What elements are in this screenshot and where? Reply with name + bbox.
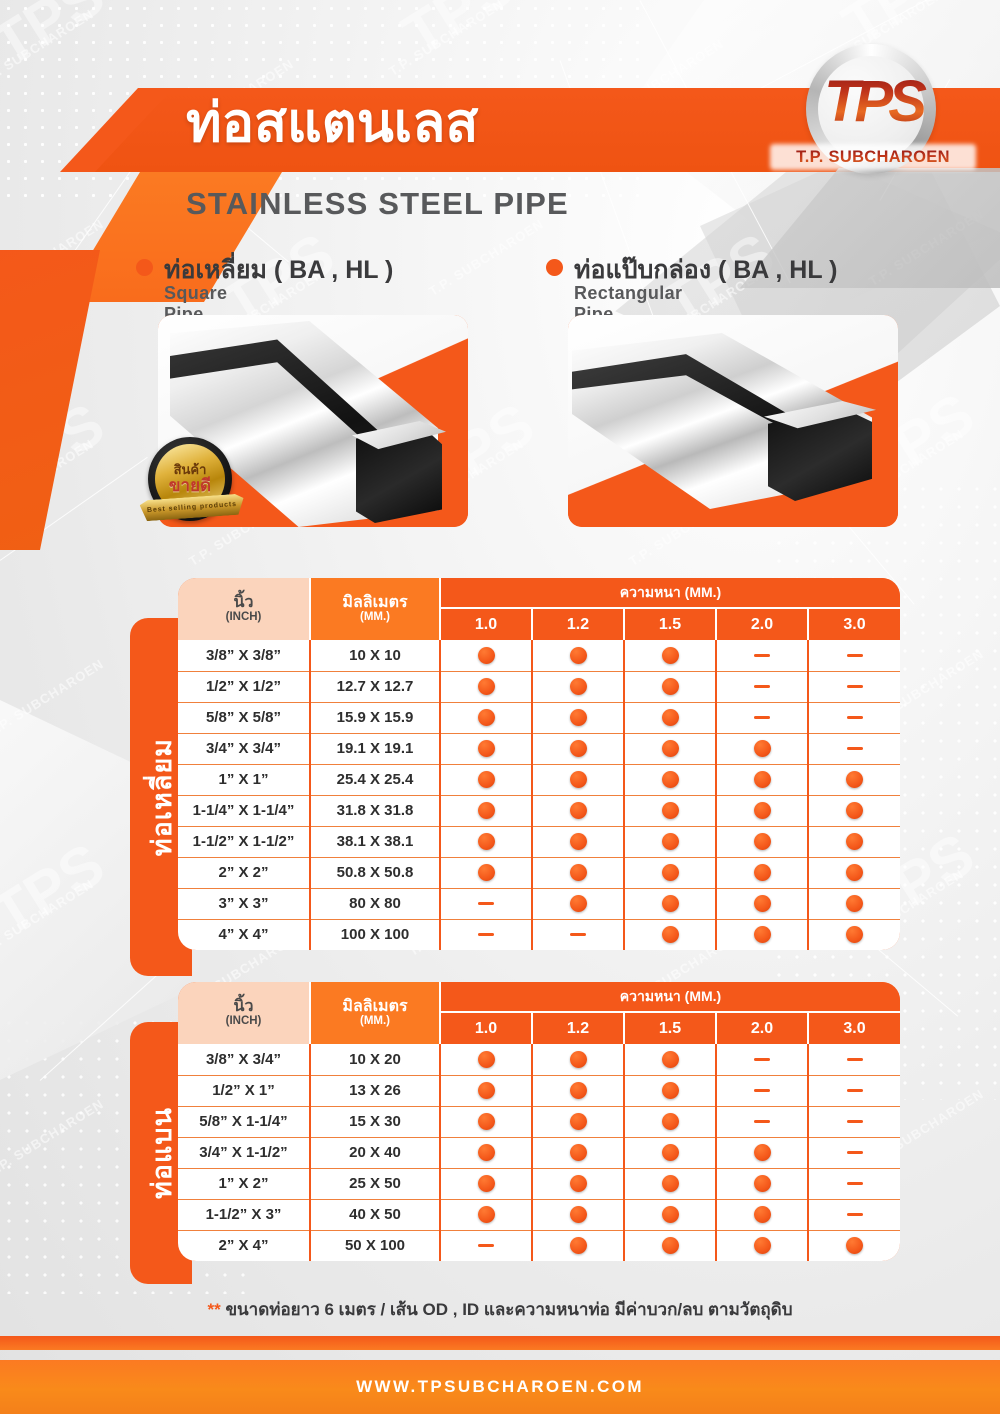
spec-table-rectangular-grid: นิ้ว (INCH) มิลลิเมตร (MM.) ความหนา (MM.…: [178, 982, 900, 1261]
cell-inch-size: 3” X 3”: [178, 888, 310, 919]
cell-available-1.2: [532, 857, 624, 888]
not-available-dash-icon: [847, 1058, 863, 1061]
logo-company-name: T.P. SUBCHAROEN: [768, 148, 978, 167]
cell-available-1.2: [532, 1106, 624, 1137]
available-dot-icon: [478, 647, 495, 664]
cell-mm-size: 15.9 X 15.9: [310, 702, 440, 733]
header-mm-thai: มิลลิเมตร: [311, 999, 439, 1016]
cell-available-1.0: [440, 1199, 532, 1230]
table-row: 3/8” X 3/8”10 X 10: [178, 640, 900, 671]
available-dot-icon: [478, 771, 495, 788]
cell-unavailable-3.0: [808, 1044, 900, 1075]
header-thickness-1.5: 1.5: [624, 608, 716, 640]
available-dot-icon: [570, 1206, 587, 1223]
available-dot-icon: [570, 771, 587, 788]
cell-available-1.2: [532, 888, 624, 919]
available-dot-icon: [570, 1237, 587, 1254]
available-dot-icon: [754, 833, 771, 850]
available-dot-icon: [478, 1144, 495, 1161]
header-thickness-group: ความหนา (MM.): [440, 982, 900, 1012]
cell-available-1.5: [624, 640, 716, 671]
cell-available-1.2: [532, 702, 624, 733]
available-dot-icon: [478, 709, 495, 726]
cell-available-2.0: [716, 795, 808, 826]
available-dot-icon: [478, 1113, 495, 1130]
cell-available-1.5: [624, 764, 716, 795]
cell-available-2.0: [716, 826, 808, 857]
table-row: 5/8” X 5/8”15.9 X 15.9: [178, 702, 900, 733]
available-dot-icon: [570, 709, 587, 726]
not-available-dash-icon: [847, 654, 863, 657]
cell-mm-size: 50 X 100: [310, 1230, 440, 1261]
cell-available-2.0: [716, 919, 808, 950]
cell-available-1.0: [440, 795, 532, 826]
cell-unavailable-2.0: [716, 1075, 808, 1106]
cell-available-1.5: [624, 1199, 716, 1230]
not-available-dash-icon: [478, 933, 494, 936]
cell-unavailable-3.0: [808, 1075, 900, 1106]
cell-available-3.0: [808, 919, 900, 950]
available-dot-icon: [846, 802, 863, 819]
table-side-label-text: ท่อเหลี่ยม: [140, 738, 183, 856]
cell-available-1.2: [532, 1075, 624, 1106]
not-available-dash-icon: [570, 933, 586, 936]
cell-mm-size: 10 X 10: [310, 640, 440, 671]
cell-available-1.0: [440, 1137, 532, 1168]
available-dot-icon: [662, 1237, 679, 1254]
cell-available-1.2: [532, 733, 624, 764]
cell-available-1.2: [532, 795, 624, 826]
cell-available-2.0: [716, 1230, 808, 1261]
cell-mm-size: 50.8 X 50.8: [310, 857, 440, 888]
table-row: 5/8” X 1-1/4”15 X 30: [178, 1106, 900, 1137]
header-thickness-2.0: 2.0: [716, 1012, 808, 1044]
cell-inch-size: 1/2” X 1/2”: [178, 671, 310, 702]
cell-available-3.0: [808, 764, 900, 795]
not-available-dash-icon: [847, 1182, 863, 1185]
cell-available-1.5: [624, 1075, 716, 1106]
available-dot-icon: [754, 926, 771, 943]
available-dot-icon: [754, 1206, 771, 1223]
available-dot-icon: [662, 678, 679, 695]
header-mm-english: (MM.): [311, 1015, 439, 1027]
cell-unavailable-2.0: [716, 640, 808, 671]
available-dot-icon: [846, 1237, 863, 1254]
cell-available-2.0: [716, 888, 808, 919]
cell-available-1.0: [440, 733, 532, 764]
available-dot-icon: [754, 864, 771, 881]
available-dot-icon: [662, 926, 679, 943]
cell-available-1.0: [440, 764, 532, 795]
table-header-row-1: นิ้ว (INCH) มิลลิเมตร (MM.) ความหนา (MM.…: [178, 982, 900, 1012]
not-available-dash-icon: [754, 716, 770, 719]
not-available-dash-icon: [754, 654, 770, 657]
not-available-dash-icon: [847, 747, 863, 750]
header-thickness-1.2: 1.2: [532, 608, 624, 640]
available-dot-icon: [478, 833, 495, 850]
table-header: นิ้ว (INCH) มิลลิเมตร (MM.) ความหนา (MM.…: [178, 578, 900, 640]
cell-inch-size: 1-1/2” X 3”: [178, 1199, 310, 1230]
cell-unavailable-1.2: [532, 919, 624, 950]
available-dot-icon: [754, 1175, 771, 1192]
available-dot-icon: [570, 740, 587, 757]
cell-available-1.2: [532, 1044, 624, 1075]
available-dot-icon: [662, 1175, 679, 1192]
cell-available-1.5: [624, 1168, 716, 1199]
cell-inch-size: 1/2” X 1”: [178, 1075, 310, 1106]
not-available-dash-icon: [478, 902, 494, 905]
badge-line-2: ขายดี: [169, 477, 211, 495]
cell-mm-size: 10 X 20: [310, 1044, 440, 1075]
cell-available-1.2: [532, 826, 624, 857]
cell-available-1.0: [440, 857, 532, 888]
cell-available-3.0: [808, 888, 900, 919]
available-dot-icon: [662, 709, 679, 726]
table-row: 2” X 2”50.8 X 50.8: [178, 857, 900, 888]
not-available-dash-icon: [847, 685, 863, 688]
header-mm-thai: มิลลิเมตร: [311, 595, 439, 612]
available-dot-icon: [754, 1237, 771, 1254]
available-dot-icon: [478, 864, 495, 881]
available-dot-icon: [570, 895, 587, 912]
cell-available-3.0: [808, 826, 900, 857]
header-thickness-3.0: 3.0: [808, 608, 900, 640]
available-dot-icon: [754, 895, 771, 912]
product-image-rectangular-pipe: [568, 315, 898, 527]
available-dot-icon: [478, 1051, 495, 1068]
spec-table-square-grid: นิ้ว (INCH) มิลลิเมตร (MM.) ความหนา (MM.…: [178, 578, 900, 950]
cell-available-1.5: [624, 1230, 716, 1261]
available-dot-icon: [846, 926, 863, 943]
available-dot-icon: [570, 1082, 587, 1099]
badge-ribbon-text: Best selling products: [147, 501, 237, 514]
available-dot-icon: [754, 802, 771, 819]
table-header: นิ้ว (INCH) มิลลิเมตร (MM.) ความหนา (MM.…: [178, 982, 900, 1044]
cell-available-1.0: [440, 1044, 532, 1075]
table-row: 1” X 1”25.4 X 25.4: [178, 764, 900, 795]
header-inch-english: (INCH): [178, 1015, 309, 1027]
cell-inch-size: 1” X 2”: [178, 1168, 310, 1199]
cell-inch-size: 5/8” X 1-1/4”: [178, 1106, 310, 1137]
not-available-dash-icon: [754, 1058, 770, 1061]
cell-unavailable-1.0: [440, 888, 532, 919]
cell-available-1.0: [440, 671, 532, 702]
header-thickness-1.5: 1.5: [624, 1012, 716, 1044]
cell-mm-size: 40 X 50: [310, 1199, 440, 1230]
available-dot-icon: [478, 802, 495, 819]
available-dot-icon: [846, 833, 863, 850]
not-available-dash-icon: [847, 1089, 863, 1092]
cell-available-2.0: [716, 857, 808, 888]
cell-inch-size: 1” X 1”: [178, 764, 310, 795]
cell-available-1.2: [532, 671, 624, 702]
cell-available-1.0: [440, 1168, 532, 1199]
cell-available-1.2: [532, 1230, 624, 1261]
cell-available-2.0: [716, 1199, 808, 1230]
available-dot-icon: [662, 1113, 679, 1130]
cell-available-2.0: [716, 1137, 808, 1168]
not-available-dash-icon: [754, 1089, 770, 1092]
cell-available-1.5: [624, 1106, 716, 1137]
available-dot-icon: [570, 1113, 587, 1130]
header-thickness-1.0: 1.0: [440, 1012, 532, 1044]
cell-available-2.0: [716, 764, 808, 795]
header-inch: นิ้ว (INCH): [178, 578, 310, 640]
header-inch-english: (INCH): [178, 611, 309, 623]
table-row: 1” X 2”25 X 50: [178, 1168, 900, 1199]
header-mm-english: (MM.): [311, 611, 439, 623]
available-dot-icon: [570, 1144, 587, 1161]
table-side-label-text: ท่อแบน: [140, 1107, 183, 1199]
table-row: 3” X 3”80 X 80: [178, 888, 900, 919]
cell-inch-size: 3/4” X 3/4”: [178, 733, 310, 764]
cell-unavailable-2.0: [716, 702, 808, 733]
cell-unavailable-3.0: [808, 733, 900, 764]
cell-available-1.0: [440, 702, 532, 733]
cell-unavailable-3.0: [808, 1106, 900, 1137]
cell-inch-size: 5/8” X 5/8”: [178, 702, 310, 733]
logo-mark-text: TPS: [786, 68, 960, 135]
not-available-dash-icon: [754, 1120, 770, 1123]
cell-available-1.2: [532, 640, 624, 671]
table-row: 3/8” X 3/4”10 X 20: [178, 1044, 900, 1075]
available-dot-icon: [570, 864, 587, 881]
cell-available-1.0: [440, 1075, 532, 1106]
available-dot-icon: [478, 1175, 495, 1192]
cell-mm-size: 19.1 X 19.1: [310, 733, 440, 764]
badge-line-1: สินค้า: [174, 463, 207, 477]
header-thickness-2.0: 2.0: [716, 608, 808, 640]
not-available-dash-icon: [478, 1244, 494, 1247]
cell-unavailable-1.0: [440, 919, 532, 950]
best-seller-badge: สินค้า ขายดี Best selling products: [142, 435, 242, 535]
available-dot-icon: [846, 771, 863, 788]
available-dot-icon: [570, 1051, 587, 1068]
available-dot-icon: [478, 678, 495, 695]
cell-available-1.5: [624, 826, 716, 857]
cell-mm-size: 100 X 100: [310, 919, 440, 950]
cell-inch-size: 3/8” X 3/8”: [178, 640, 310, 671]
cell-available-1.2: [532, 1199, 624, 1230]
available-dot-icon: [570, 678, 587, 695]
cell-mm-size: 38.1 X 38.1: [310, 826, 440, 857]
table-body: 3/8” X 3/4”10 X 201/2” X 1”13 X 265/8” X…: [178, 1044, 900, 1261]
cell-mm-size: 12.7 X 12.7: [310, 671, 440, 702]
table-row: 1/2” X 1”13 X 26: [178, 1075, 900, 1106]
available-dot-icon: [570, 647, 587, 664]
cell-unavailable-2.0: [716, 1044, 808, 1075]
header-thickness-1.0: 1.0: [440, 608, 532, 640]
not-available-dash-icon: [754, 685, 770, 688]
cell-available-1.0: [440, 1106, 532, 1137]
cell-unavailable-3.0: [808, 671, 900, 702]
available-dot-icon: [662, 1206, 679, 1223]
not-available-dash-icon: [847, 1120, 863, 1123]
header-inch-thai: นิ้ว: [178, 595, 309, 612]
available-dot-icon: [662, 740, 679, 757]
cell-available-1.5: [624, 857, 716, 888]
table-row: 3/4” X 1-1/2”20 X 40: [178, 1137, 900, 1168]
cell-mm-size: 80 X 80: [310, 888, 440, 919]
cell-available-1.0: [440, 640, 532, 671]
cell-available-1.2: [532, 764, 624, 795]
cell-unavailable-3.0: [808, 1168, 900, 1199]
available-dot-icon: [662, 864, 679, 881]
available-dot-icon: [662, 802, 679, 819]
rectangular-pipe-drawing: [572, 333, 898, 527]
available-dot-icon: [754, 771, 771, 788]
page-title-thai: ท่อสแตนเลส: [186, 96, 478, 150]
cell-available-1.5: [624, 702, 716, 733]
footer-bar: WWW.TPSUBCHAROEN.COM: [0, 1360, 1000, 1414]
cell-available-1.5: [624, 919, 716, 950]
table-row: 1-1/4” X 1-1/4”31.8 X 31.8: [178, 795, 900, 826]
not-available-dash-icon: [847, 1151, 863, 1154]
available-dot-icon: [662, 771, 679, 788]
company-logo: TPS T.P. SUBCHAROEN: [768, 44, 978, 184]
cell-available-1.5: [624, 1044, 716, 1075]
cell-available-1.5: [624, 795, 716, 826]
table-row: 1-1/2” X 3”40 X 50: [178, 1199, 900, 1230]
header-mm: มิลลิเมตร (MM.): [310, 578, 440, 640]
cell-available-1.5: [624, 733, 716, 764]
header-thickness-group: ความหนา (MM.): [440, 578, 900, 608]
cell-available-1.2: [532, 1137, 624, 1168]
cell-mm-size: 25 X 50: [310, 1168, 440, 1199]
cell-available-3.0: [808, 1230, 900, 1261]
bullet-dot-icon: [546, 259, 563, 276]
cell-available-3.0: [808, 857, 900, 888]
footnote-text: ขนาดท่อยาว 6 เมตร / เส้น OD , ID และความ…: [225, 1300, 792, 1319]
cell-available-2.0: [716, 1168, 808, 1199]
available-dot-icon: [662, 647, 679, 664]
cell-mm-size: 15 X 30: [310, 1106, 440, 1137]
available-dot-icon: [570, 802, 587, 819]
table-row: 1/2” X 1/2”12.7 X 12.7: [178, 671, 900, 702]
cell-unavailable-2.0: [716, 671, 808, 702]
cell-inch-size: 2” X 2”: [178, 857, 310, 888]
cell-inch-size: 3/8” X 3/4”: [178, 1044, 310, 1075]
cell-inch-size: 1-1/4” X 1-1/4”: [178, 795, 310, 826]
header-thickness-3.0: 3.0: [808, 1012, 900, 1044]
cell-available-1.5: [624, 1137, 716, 1168]
footer-website[interactable]: WWW.TPSUBCHAROEN.COM: [356, 1377, 644, 1397]
table-row: 2” X 4”50 X 100: [178, 1230, 900, 1261]
cell-available-1.5: [624, 671, 716, 702]
table-row: 1-1/2” X 1-1/2”38.1 X 38.1: [178, 826, 900, 857]
available-dot-icon: [478, 740, 495, 757]
table-header-row-1: นิ้ว (INCH) มิลลิเมตร (MM.) ความหนา (MM.…: [178, 578, 900, 608]
header-mm: มิลลิเมตร (MM.): [310, 982, 440, 1044]
available-dot-icon: [478, 1206, 495, 1223]
available-dot-icon: [662, 895, 679, 912]
cell-available-1.0: [440, 826, 532, 857]
cell-inch-size: 3/4” X 1-1/2”: [178, 1137, 310, 1168]
cell-available-3.0: [808, 795, 900, 826]
cell-mm-size: 13 X 26: [310, 1075, 440, 1106]
spec-table-square: นิ้ว (INCH) มิลลิเมตร (MM.) ความหนา (MM.…: [178, 578, 900, 950]
available-dot-icon: [754, 740, 771, 757]
cell-unavailable-3.0: [808, 640, 900, 671]
cell-available-2.0: [716, 733, 808, 764]
available-dot-icon: [846, 895, 863, 912]
not-available-dash-icon: [847, 1213, 863, 1216]
bullet-dot-icon: [136, 259, 153, 276]
spec-table-rectangular: นิ้ว (INCH) มิลลิเมตร (MM.) ความหนา (MM.…: [178, 982, 900, 1261]
cell-available-1.5: [624, 888, 716, 919]
cell-mm-size: 31.8 X 31.8: [310, 795, 440, 826]
cell-unavailable-3.0: [808, 702, 900, 733]
not-available-dash-icon: [847, 716, 863, 719]
cell-unavailable-1.0: [440, 1230, 532, 1261]
table-body: 3/8” X 3/8”10 X 101/2” X 1/2”12.7 X 12.7…: [178, 640, 900, 950]
header-thickness-1.2: 1.2: [532, 1012, 624, 1044]
available-dot-icon: [662, 1051, 679, 1068]
available-dot-icon: [662, 1144, 679, 1161]
available-dot-icon: [754, 1144, 771, 1161]
footnote: ** ขนาดท่อยาว 6 เมตร / เส้น OD , ID และค…: [0, 1296, 1000, 1323]
table-row: 4” X 4”100 X 100: [178, 919, 900, 950]
cell-inch-size: 4” X 4”: [178, 919, 310, 950]
table-row: 3/4” X 3/4”19.1 X 19.1: [178, 733, 900, 764]
cell-available-1.2: [532, 1168, 624, 1199]
available-dot-icon: [846, 864, 863, 881]
footer-separator: [0, 1336, 1000, 1350]
header-inch-thai: นิ้ว: [178, 999, 309, 1016]
header-inch: นิ้ว (INCH): [178, 982, 310, 1044]
footnote-stars: **: [207, 1300, 220, 1319]
cell-unavailable-3.0: [808, 1137, 900, 1168]
cell-inch-size: 2” X 4”: [178, 1230, 310, 1261]
page-title-english: STAINLESS STEEL PIPE: [186, 186, 569, 222]
cell-unavailable-3.0: [808, 1199, 900, 1230]
cell-mm-size: 25.4 X 25.4: [310, 764, 440, 795]
available-dot-icon: [570, 833, 587, 850]
cell-inch-size: 1-1/2” X 1-1/2”: [178, 826, 310, 857]
cell-unavailable-2.0: [716, 1106, 808, 1137]
available-dot-icon: [662, 1082, 679, 1099]
available-dot-icon: [662, 833, 679, 850]
available-dot-icon: [570, 1175, 587, 1192]
cell-mm-size: 20 X 40: [310, 1137, 440, 1168]
available-dot-icon: [478, 1082, 495, 1099]
